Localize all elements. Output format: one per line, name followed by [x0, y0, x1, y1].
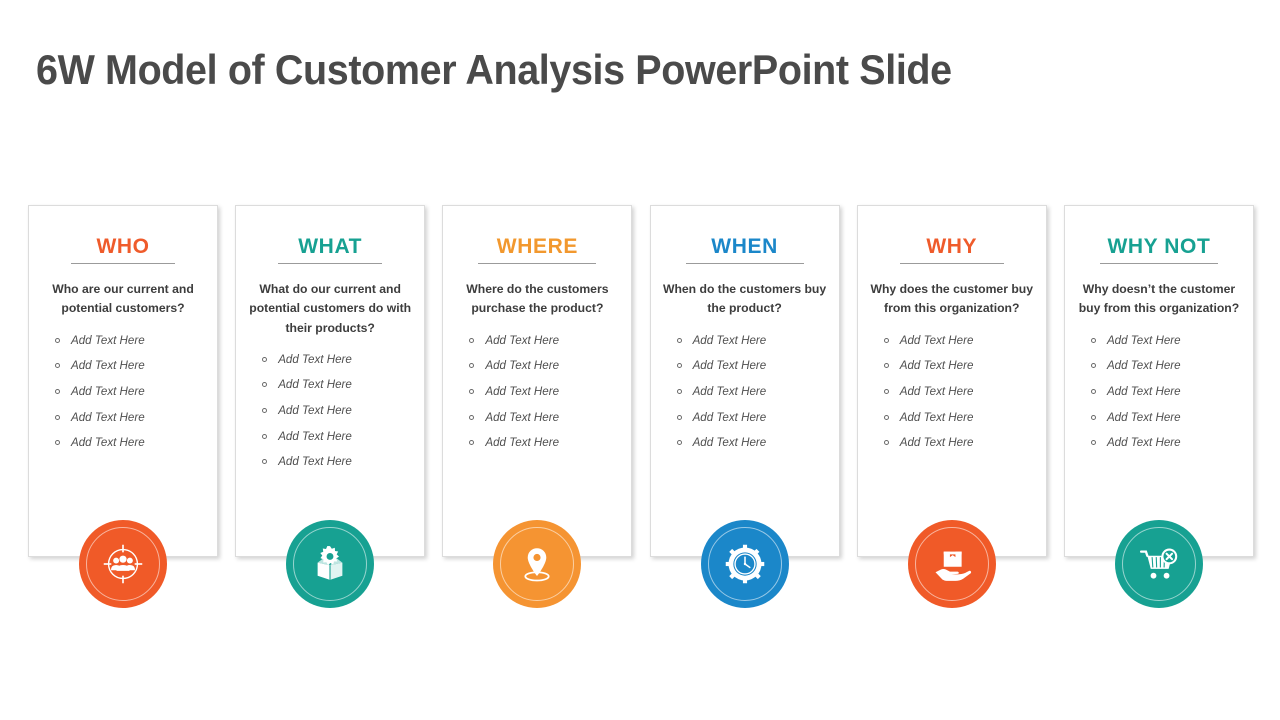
icon-badge-why-not	[1115, 520, 1203, 608]
page-title: 6W Model of Customer Analysis PowerPoint…	[36, 46, 952, 94]
header-underline	[478, 263, 596, 264]
list-item[interactable]: Add Text Here	[677, 358, 831, 374]
column-why-not[interactable]: WHY NOT Why doesn’t the customer buy fro…	[1064, 205, 1254, 615]
list-item[interactable]: Add Text Here	[262, 429, 416, 445]
map-pin-icon	[515, 542, 559, 586]
card-header-why: WHY	[866, 236, 1038, 258]
header-underline	[1100, 263, 1218, 264]
list-item[interactable]: Add Text Here	[677, 410, 831, 426]
column-why[interactable]: WHY Why does the customer buy from this …	[857, 205, 1047, 615]
list-item[interactable]: Add Text Here	[884, 358, 1038, 374]
card-when[interactable]: WHEN When do the customers buy the produ…	[650, 205, 840, 557]
list-item[interactable]: Add Text Here	[677, 435, 831, 451]
card-what[interactable]: WHAT What do our current and potential c…	[235, 205, 425, 557]
icon-badge-why	[908, 520, 996, 608]
bullet-list-why-not: Add Text Here Add Text Here Add Text Her…	[1073, 333, 1245, 451]
list-item[interactable]: Add Text Here	[1091, 410, 1245, 426]
card-header-when: WHEN	[659, 236, 831, 258]
list-item[interactable]: Add Text Here	[884, 435, 1038, 451]
header-underline	[900, 263, 1004, 264]
list-item[interactable]: Add Text Here	[469, 384, 623, 400]
list-item[interactable]: Add Text Here	[262, 377, 416, 393]
list-item[interactable]: Add Text Here	[469, 410, 623, 426]
card-question-where: Where do the customers purchase the prod…	[451, 280, 623, 319]
card-why-not[interactable]: WHY NOT Why doesn’t the customer buy fro…	[1064, 205, 1254, 557]
list-item[interactable]: Add Text Here	[1091, 384, 1245, 400]
card-where[interactable]: WHERE Where do the customers purchase th…	[442, 205, 632, 557]
list-item[interactable]: Add Text Here	[884, 410, 1038, 426]
column-where[interactable]: WHERE Where do the customers purchase th…	[442, 205, 632, 615]
column-when[interactable]: WHEN When do the customers buy the produ…	[650, 205, 840, 615]
list-item[interactable]: Add Text Here	[469, 358, 623, 374]
cart-remove-icon	[1137, 542, 1181, 586]
bullet-list-why: Add Text Here Add Text Here Add Text Her…	[866, 333, 1038, 451]
icon-badge-where	[493, 520, 581, 608]
bullet-list-when: Add Text Here Add Text Here Add Text Her…	[659, 333, 831, 451]
open-box-gear-icon	[308, 542, 352, 586]
list-item[interactable]: Add Text Here	[677, 384, 831, 400]
bullet-list-who: Add Text Here Add Text Here Add Text Her…	[37, 333, 209, 451]
icon-badge-what	[286, 520, 374, 608]
list-item[interactable]: Add Text Here	[55, 358, 209, 374]
list-item[interactable]: Add Text Here	[55, 384, 209, 400]
hand-package-icon	[930, 542, 974, 586]
card-header-who: WHO	[37, 236, 209, 258]
columns-container: WHO Who are our current and potential cu…	[28, 205, 1254, 615]
card-question-what: What do our current and potential custom…	[244, 280, 416, 338]
list-item[interactable]: Add Text Here	[469, 435, 623, 451]
header-underline	[71, 263, 175, 264]
icon-badge-who	[79, 520, 167, 608]
bullet-list-what: Add Text Here Add Text Here Add Text Her…	[244, 352, 416, 470]
list-item[interactable]: Add Text Here	[55, 435, 209, 451]
list-item[interactable]: Add Text Here	[469, 333, 623, 349]
card-why[interactable]: WHY Why does the customer buy from this …	[857, 205, 1047, 557]
card-header-what: WHAT	[244, 236, 416, 258]
list-item[interactable]: Add Text Here	[884, 384, 1038, 400]
list-item[interactable]: Add Text Here	[55, 333, 209, 349]
list-item[interactable]: Add Text Here	[55, 410, 209, 426]
card-question-why: Why does the customer buy from this orga…	[866, 280, 1038, 319]
list-item[interactable]: Add Text Here	[1091, 333, 1245, 349]
card-question-when: When do the customers buy the product?	[659, 280, 831, 319]
column-what[interactable]: WHAT What do our current and potential c…	[235, 205, 425, 615]
header-underline	[278, 263, 382, 264]
list-item[interactable]: Add Text Here	[262, 352, 416, 368]
card-header-why-not: WHY NOT	[1073, 236, 1245, 258]
list-item[interactable]: Add Text Here	[677, 333, 831, 349]
header-underline	[686, 263, 804, 264]
column-who[interactable]: WHO Who are our current and potential cu…	[28, 205, 218, 615]
list-item[interactable]: Add Text Here	[262, 403, 416, 419]
clock-gear-icon	[723, 542, 767, 586]
list-item[interactable]: Add Text Here	[1091, 435, 1245, 451]
card-who[interactable]: WHO Who are our current and potential cu…	[28, 205, 218, 557]
list-item[interactable]: Add Text Here	[1091, 358, 1245, 374]
target-people-icon	[101, 542, 145, 586]
list-item[interactable]: Add Text Here	[884, 333, 1038, 349]
card-header-where: WHERE	[451, 236, 623, 258]
list-item[interactable]: Add Text Here	[262, 454, 416, 470]
card-question-why-not: Why doesn’t the customer buy from this o…	[1073, 280, 1245, 319]
bullet-list-where: Add Text Here Add Text Here Add Text Her…	[451, 333, 623, 451]
card-question-who: Who are our current and potential custom…	[37, 280, 209, 319]
icon-badge-when	[701, 520, 789, 608]
